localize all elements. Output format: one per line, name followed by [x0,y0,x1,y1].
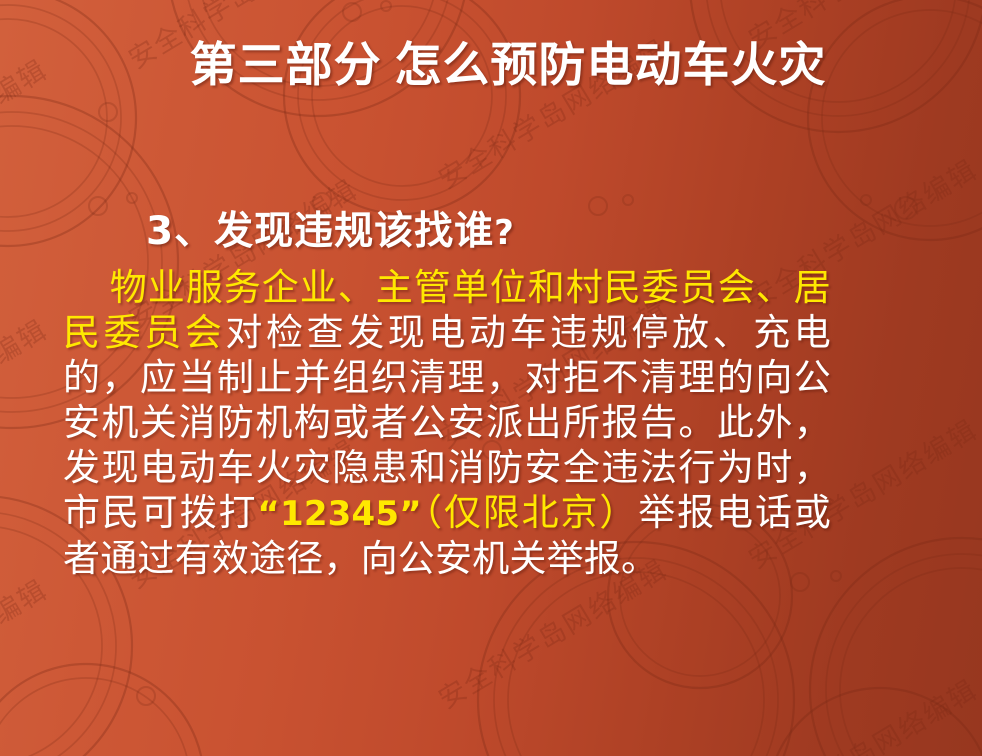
section-number: 3、 [146,209,214,254]
highlight-hotline-scope: （仅限北京） [422,493,638,534]
section-question-mark: ? [494,213,515,253]
hotline-number: 12345 [280,494,399,534]
page-title: 第三部分 怎么预防电动车火灾 [0,38,982,94]
section-heading-text: 发现违规该找谁 [214,210,494,253]
hotline-quote-close: ” [399,494,422,534]
slide-canvas: 安全科学岛网络编辑 安全科学岛网络编辑 安全科学岛网络编辑 安全科学岛网络编辑 … [0,0,982,756]
slide-content: 第三部分 怎么预防电动车火灾 3、发现违规该找谁? 物业服务企业、主管单位和村民… [0,0,982,756]
section-heading: 3、发现违规该找谁? [146,200,515,256]
body-paragraph: 物业服务企业、主管单位和村民委员会、居民委员会对检查发现电动车违规停放、充电的，… [63,266,831,582]
hotline-quote-open: “ [257,494,280,534]
